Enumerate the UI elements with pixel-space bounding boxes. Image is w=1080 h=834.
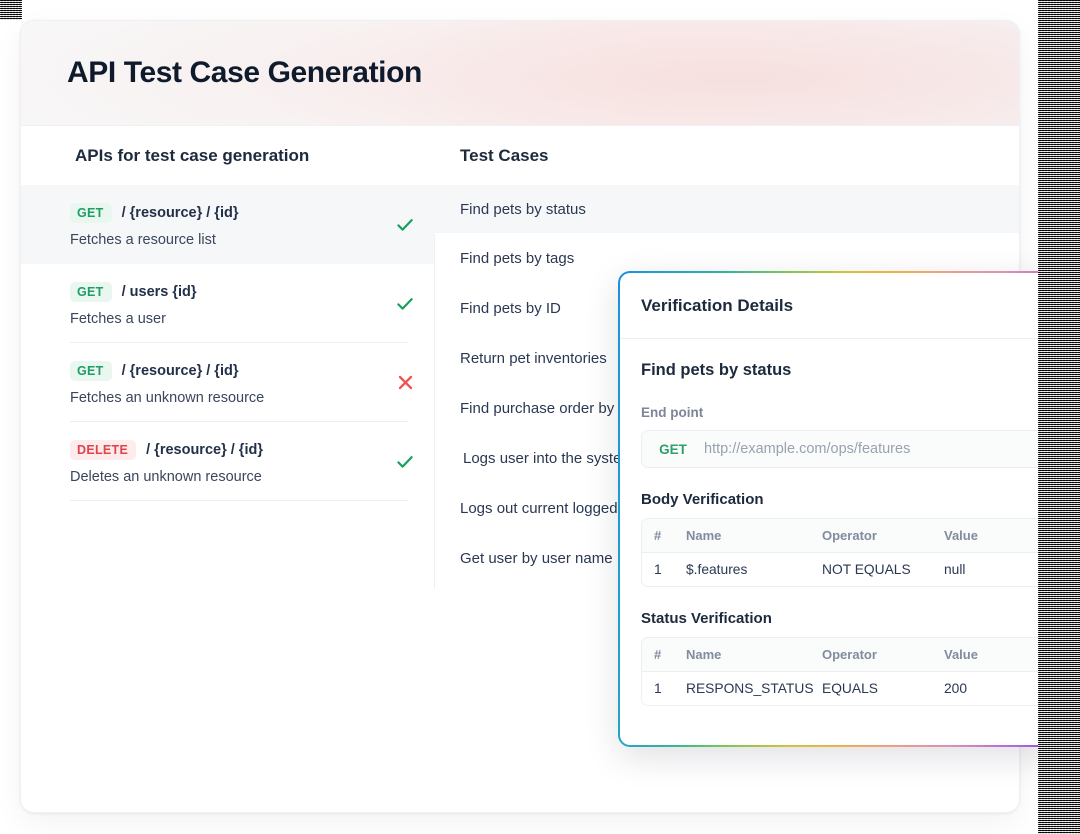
endpoint-label: End point: [641, 405, 1053, 420]
cell-name: $.features: [674, 553, 810, 586]
table-row: 1 RESPONS_STATUS EQUALS 200: [642, 672, 1052, 705]
api-method-badge: GET: [70, 361, 112, 381]
cell-index: 1: [642, 672, 674, 705]
noise-texture-corner: [0, 0, 22, 20]
screenshot-root: API Test Case Generation APIs for test c…: [0, 0, 1080, 834]
api-description: Deletes an unknown resource: [70, 469, 408, 485]
modal-content: Find pets by status End point GET http:/…: [620, 339, 1074, 706]
column-header-operator: Operator: [810, 519, 932, 553]
card-header: API Test Case Generation: [21, 21, 1019, 126]
verification-details-modal: Verification Details Find pets by status…: [618, 271, 1076, 747]
api-item-header: DELETE / {resource} / {id}: [70, 440, 408, 460]
testcase-list-item[interactable]: Find pets by status: [434, 185, 1019, 233]
modal-title: Verification Details: [641, 296, 793, 316]
page-title: API Test Case Generation: [67, 56, 422, 90]
column-header-operator: Operator: [810, 638, 932, 672]
api-path: / users {id}: [122, 284, 197, 300]
api-description: Fetches a user: [70, 311, 408, 327]
apis-panel-heading: APIs for test case generation: [21, 126, 434, 185]
endpoint-url-text: http://example.com/ops/features: [704, 441, 910, 457]
endpoint-field[interactable]: GET http://example.com/ops/features: [641, 430, 1053, 468]
api-method-badge: GET: [70, 282, 112, 302]
api-description: Fetches an unknown resource: [70, 390, 408, 406]
api-description: Fetches a resource list: [70, 232, 408, 248]
column-header-name: Name: [674, 519, 810, 553]
check-icon: [394, 451, 416, 473]
endpoint-method-badge: GET: [642, 442, 704, 457]
table-header-row: # Name Operator Value: [642, 638, 1052, 672]
column-header-value: Value: [932, 638, 1052, 672]
cross-icon: [394, 372, 416, 394]
api-list-item[interactable]: GET / {resource} / {id} Fetches an unkno…: [21, 343, 434, 422]
api-method-badge: GET: [70, 203, 112, 223]
column-header-index: #: [642, 638, 674, 672]
cell-operator: EQUALS: [810, 672, 932, 705]
body-verification-title: Body Verification: [641, 491, 1053, 508]
api-path: / {resource} / {id}: [146, 442, 263, 458]
column-divider: [434, 234, 435, 589]
check-icon: [394, 293, 416, 315]
status-verification-table: # Name Operator Value 1 RESPONS_STATUS E…: [641, 637, 1053, 706]
column-header-name: Name: [674, 638, 810, 672]
testcases-panel-heading: Test Cases: [434, 126, 1019, 185]
api-list-item[interactable]: GET / users {id} Fetches a user: [21, 264, 434, 343]
cell-value: null: [932, 553, 1052, 586]
api-method-badge: DELETE: [70, 440, 136, 460]
cell-operator: NOT EQUALS: [810, 553, 932, 586]
column-header-value: Value: [932, 519, 1052, 553]
api-list-item[interactable]: GET / {resource} / {id} Fetches a resour…: [21, 185, 434, 264]
table-row: 1 $.features NOT EQUALS null: [642, 553, 1052, 586]
modal-header: Verification Details: [620, 273, 1074, 339]
api-item-header: GET / {resource} / {id}: [70, 361, 408, 381]
api-item-header: GET / users {id}: [70, 282, 408, 302]
apis-panel: APIs for test case generation GET / {res…: [21, 126, 434, 813]
status-verification-title: Status Verification: [641, 610, 1053, 627]
cell-name: RESPONS_STATUS: [674, 672, 810, 705]
api-list: GET / {resource} / {id} Fetches a resour…: [21, 185, 434, 501]
cell-value: 200: [932, 672, 1052, 705]
check-icon: [394, 214, 416, 236]
api-item-header: GET / {resource} / {id}: [70, 203, 408, 223]
list-divider: [70, 500, 408, 501]
api-path: / {resource} / {id}: [122, 205, 239, 221]
api-list-item[interactable]: DELETE / {resource} / {id} Deletes an un…: [21, 422, 434, 501]
table-header-row: # Name Operator Value: [642, 519, 1052, 553]
modal-testcase-name: Find pets by status: [641, 361, 1053, 380]
cell-index: 1: [642, 553, 674, 586]
body-verification-table: # Name Operator Value 1 $.features NOT E…: [641, 518, 1053, 587]
api-path: / {resource} / {id}: [122, 363, 239, 379]
modal-inner: Verification Details Find pets by status…: [620, 273, 1074, 745]
column-header-index: #: [642, 519, 674, 553]
